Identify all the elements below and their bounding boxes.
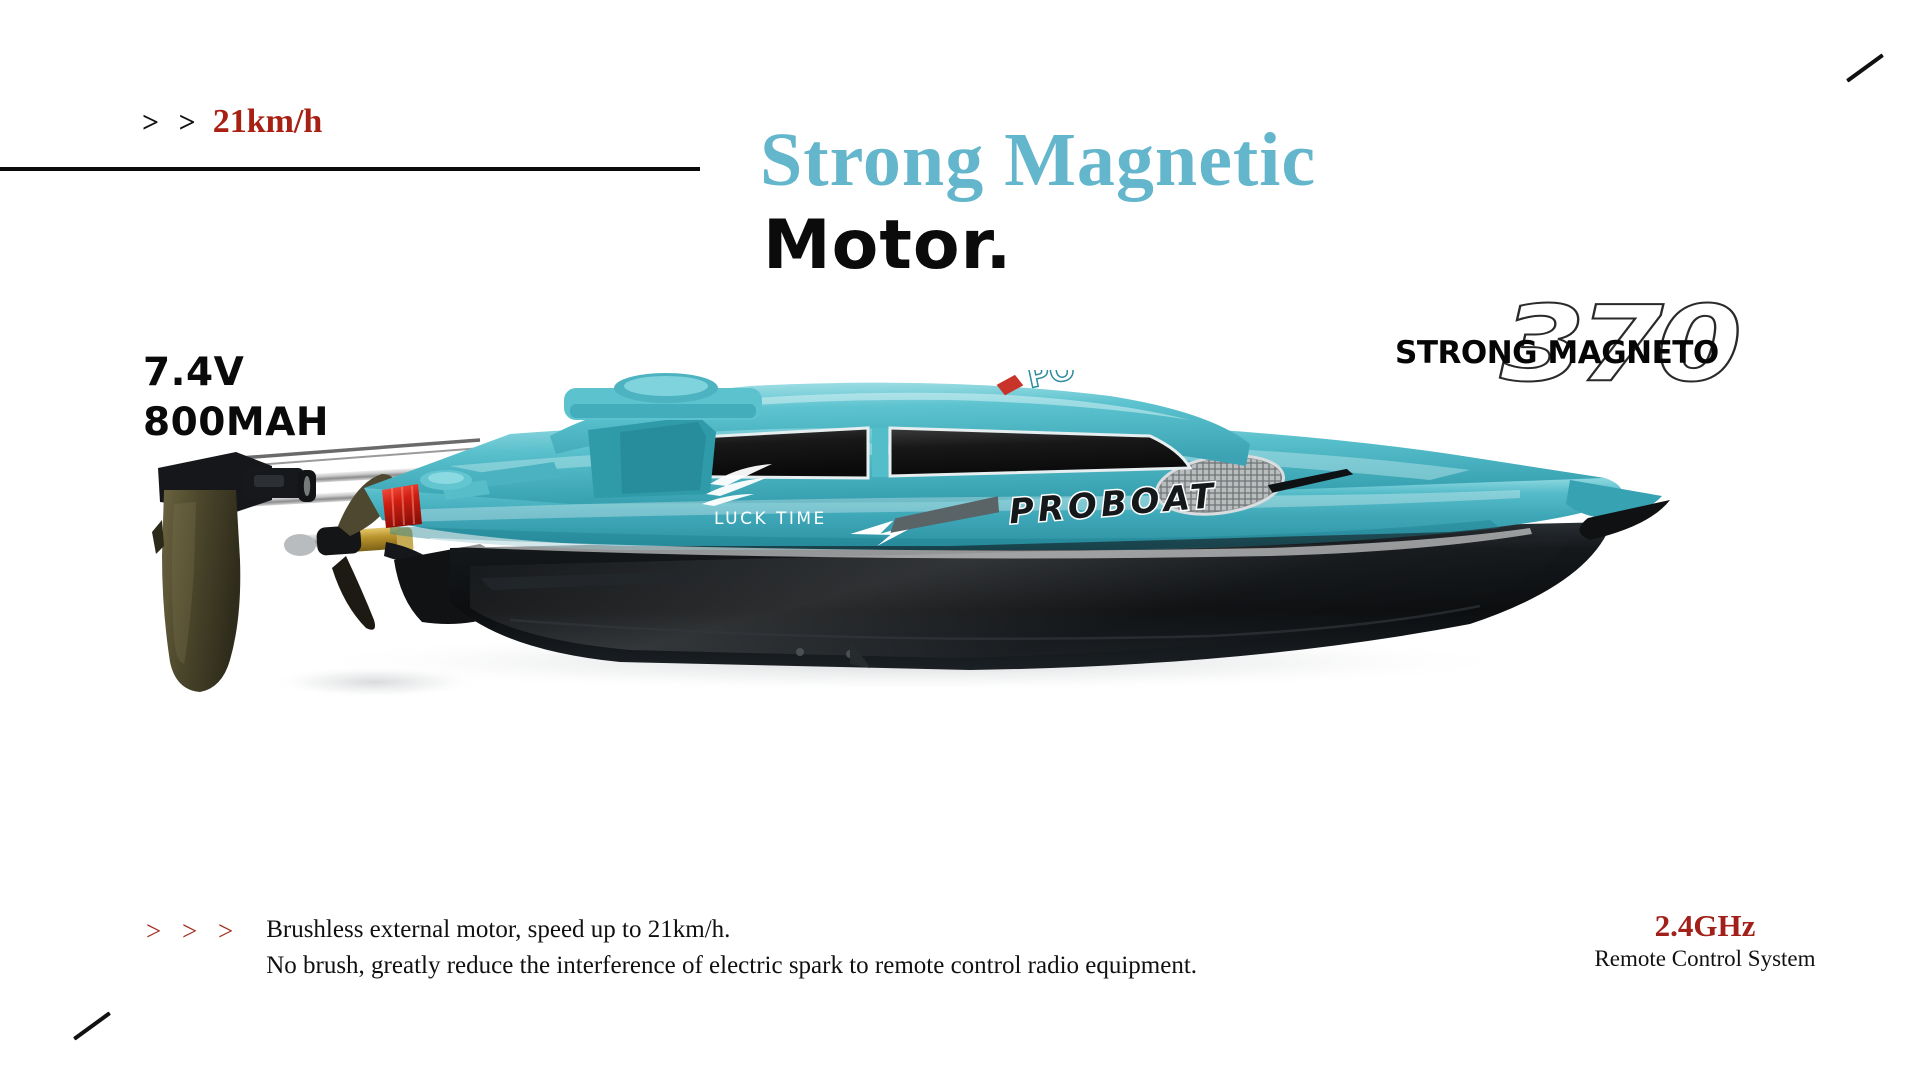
corner-slash-bottom-left-icon — [73, 1011, 111, 1040]
magneto-label: STRONG MAGNETO — [1395, 335, 1719, 371]
chevrons-icon: > > > — [146, 912, 240, 951]
steering-linkage-upper — [240, 440, 480, 458]
rc-subtitle: Remote Control System — [1540, 946, 1870, 972]
speed-badge: > > 21km/h — [142, 103, 322, 141]
product-feature-page: > > 21km/h Strong Magnetic Motor. 7.4V 8… — [0, 0, 1920, 1080]
cabin-window-front — [890, 428, 1190, 476]
page-title-line-1: Strong Magnetic — [760, 122, 1316, 198]
ground-shadow-rudder — [270, 666, 480, 698]
rc-frequency: 2.4GHz — [1540, 908, 1870, 944]
rudder-blade-edge — [152, 520, 164, 554]
feature-description: > > > Brushless external motor, speed up… — [146, 912, 1197, 985]
hull-screw-1 — [796, 648, 804, 656]
rear-deck-cap-inner — [428, 472, 464, 484]
feature-description-text: Brushless external motor, speed up to 21… — [266, 912, 1197, 985]
header-divider — [0, 167, 700, 171]
remote-control-badge: 2.4GHz Remote Control System — [1540, 908, 1870, 972]
page-title-line-2: Motor. — [763, 212, 1316, 280]
prop-nose-cone — [284, 534, 316, 556]
luck-time-label: LUCK TIME — [714, 509, 827, 529]
corner-slash-top-right-icon — [1846, 53, 1884, 82]
chevron-right-icon: > > — [142, 106, 202, 140]
rudder-pivot-highlight — [304, 476, 310, 496]
rc-boat-product-image: PO LUCK TIME — [150, 370, 1770, 840]
rear-tower-plate-shade — [570, 404, 756, 418]
antenna-mount-ring-inner — [624, 376, 708, 396]
propeller-blade-lower — [332, 556, 375, 630]
page-title: Strong Magnetic Motor. — [760, 122, 1316, 280]
rudder-clamp-slot — [254, 475, 284, 487]
speed-value: 21km/h — [213, 103, 323, 141]
feature-description-line-1: Brushless external motor, speed up to 21… — [266, 912, 1197, 948]
rear-tower-post-shade — [620, 422, 706, 494]
feature-description-line-2: No brush, greatly reduce the interferenc… — [266, 948, 1197, 984]
cabin-window-pillar — [872, 428, 888, 477]
